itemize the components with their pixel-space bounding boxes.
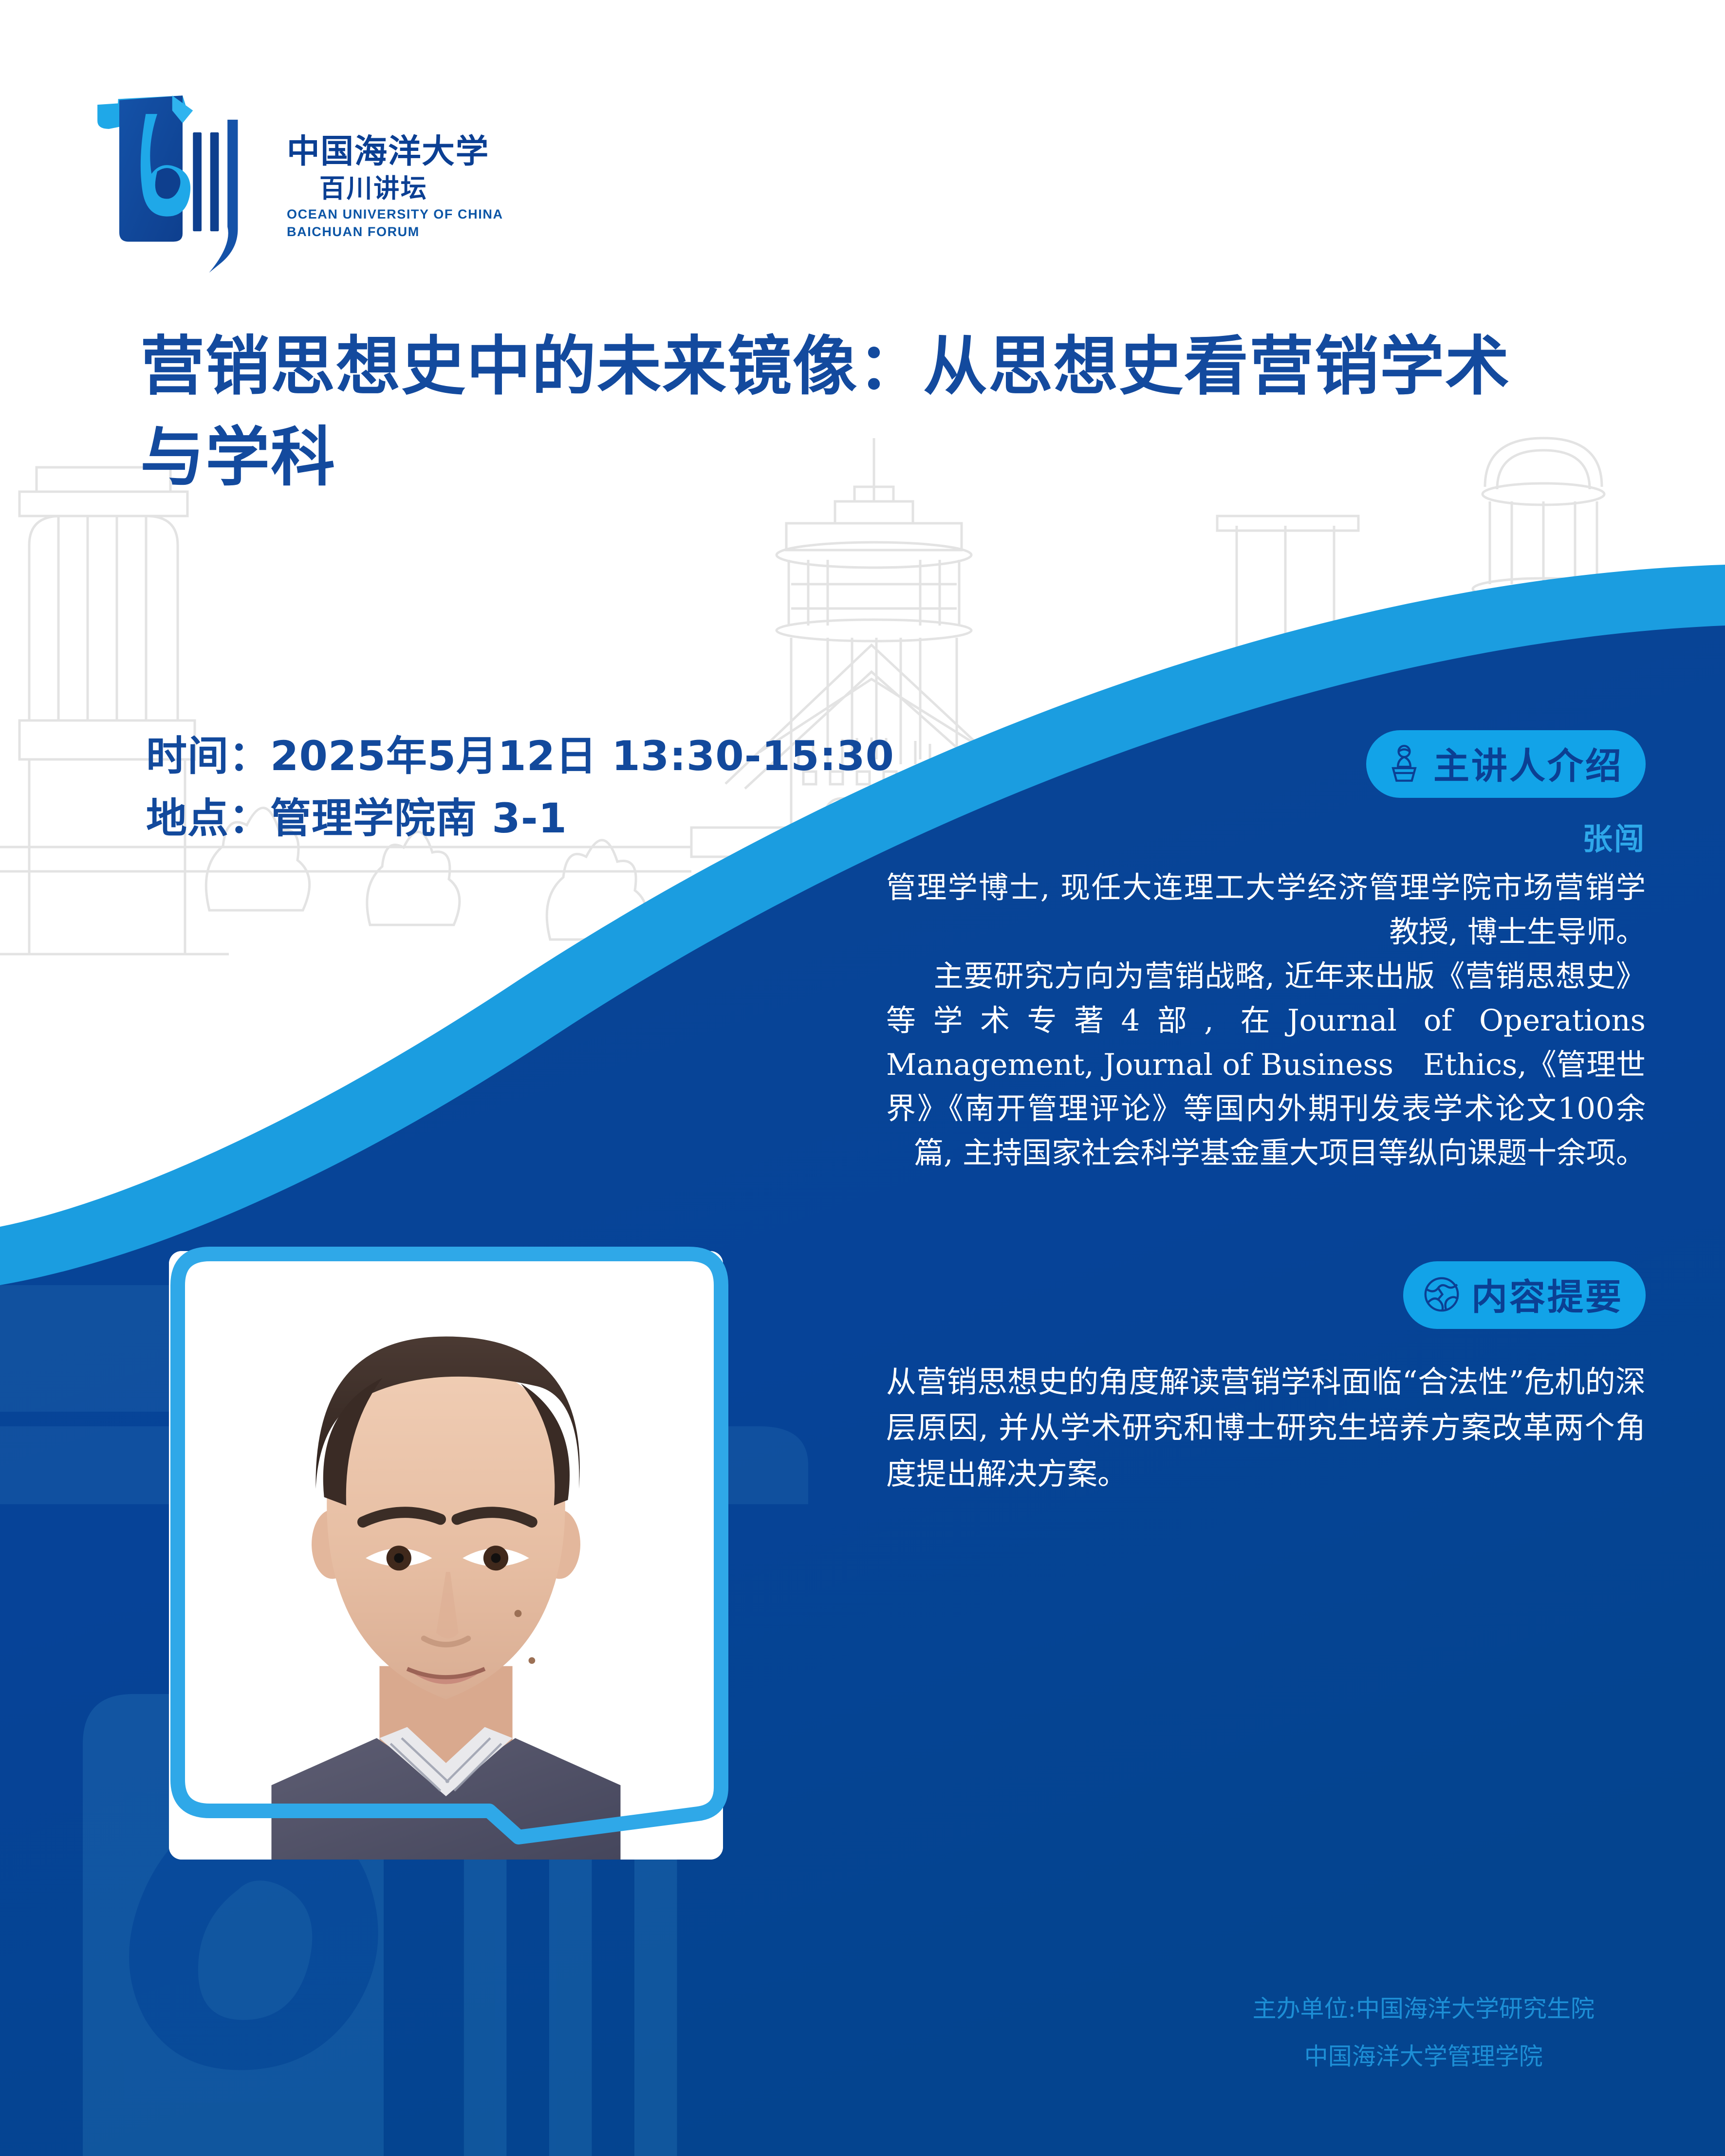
poster-title: 营销思想史中的未来镜像：从思想史看营销学术与学科 — [140, 321, 1552, 504]
globe-icon — [1423, 1275, 1461, 1313]
speaker-section-header: 主讲人介绍 — [1366, 730, 1646, 798]
abstract-section-title: 内容提要 — [1471, 1268, 1623, 1320]
abstract-section-header-row: 内容提要 — [886, 1261, 1646, 1329]
footer-organizers: 主办单位:中国海洋大学研究生院 中国海洋大学管理学院 — [1252, 1985, 1595, 2081]
abstract-section-header: 内容提要 — [1403, 1261, 1646, 1329]
event-place: 地点：管理学院南 3-1 — [146, 788, 894, 850]
abstract-section: 内容提要 从营销思想史的角度解读营销学科面临“合法性”危机的深层原因, 并从学术… — [886, 1261, 1646, 1497]
abstract-text: 从营销思想史的角度解读营销学科面临“合法性”危机的深层原因, 并从学术研究和博士… — [886, 1359, 1646, 1497]
speaker-person-icon — [1386, 744, 1423, 783]
speaker-name: 张闯 — [886, 814, 1646, 858]
speaker-section-header-row: 主讲人介绍 — [886, 730, 1646, 798]
speaker-bio-p2: 主要研究方向为营销战略, 近年来出版《营销思想史》等学术专著4部, 在Journ… — [886, 955, 1646, 1176]
right-content-column: 主讲人介绍 张闯 管理学博士, 现任大连理工大学经济管理学院市场营销学教授, 博… — [886, 730, 1646, 1497]
baichuan-forum-logo-icon — [95, 85, 270, 275]
footer-line-2: 中国海洋大学管理学院 — [1252, 2033, 1595, 2081]
event-time: 时间：2025年5月12日 13:30-15:30 — [146, 725, 894, 788]
forum-name-cn: 百川讲坛 — [287, 173, 512, 203]
university-name-en: OCEAN UNIVERSITY OF CHINA BAICHUAN FORUM — [287, 205, 512, 241]
speaker-portrait — [148, 1232, 747, 1860]
footer-line-1: 主办单位:中国海洋大学研究生院 — [1252, 1985, 1595, 2033]
svg-text:百川讲坛: 百川讲坛 — [319, 174, 427, 203]
brand-logo-block: 中国海洋大学 百川讲坛 OCEAN UNIVERSITY OF CHINA BA… — [95, 85, 512, 275]
svg-text:中国海洋大学: 中国海洋大学 — [287, 132, 489, 170]
speaker-bio-p1: 管理学博士, 现任大连理工大学经济管理学院市场营销学教授, 博士生导师。 — [886, 866, 1646, 955]
speaker-bio: 管理学博士, 现任大连理工大学经济管理学院市场营销学教授, 博士生导师。 主要研… — [886, 866, 1646, 1176]
event-meta: 时间：2025年5月12日 13:30-15:30 地点：管理学院南 3-1 — [146, 725, 894, 849]
university-name-cn: 中国海洋大学 — [287, 132, 512, 171]
speaker-section-title: 主讲人介绍 — [1433, 737, 1623, 789]
portrait-frame — [148, 1232, 747, 1860]
